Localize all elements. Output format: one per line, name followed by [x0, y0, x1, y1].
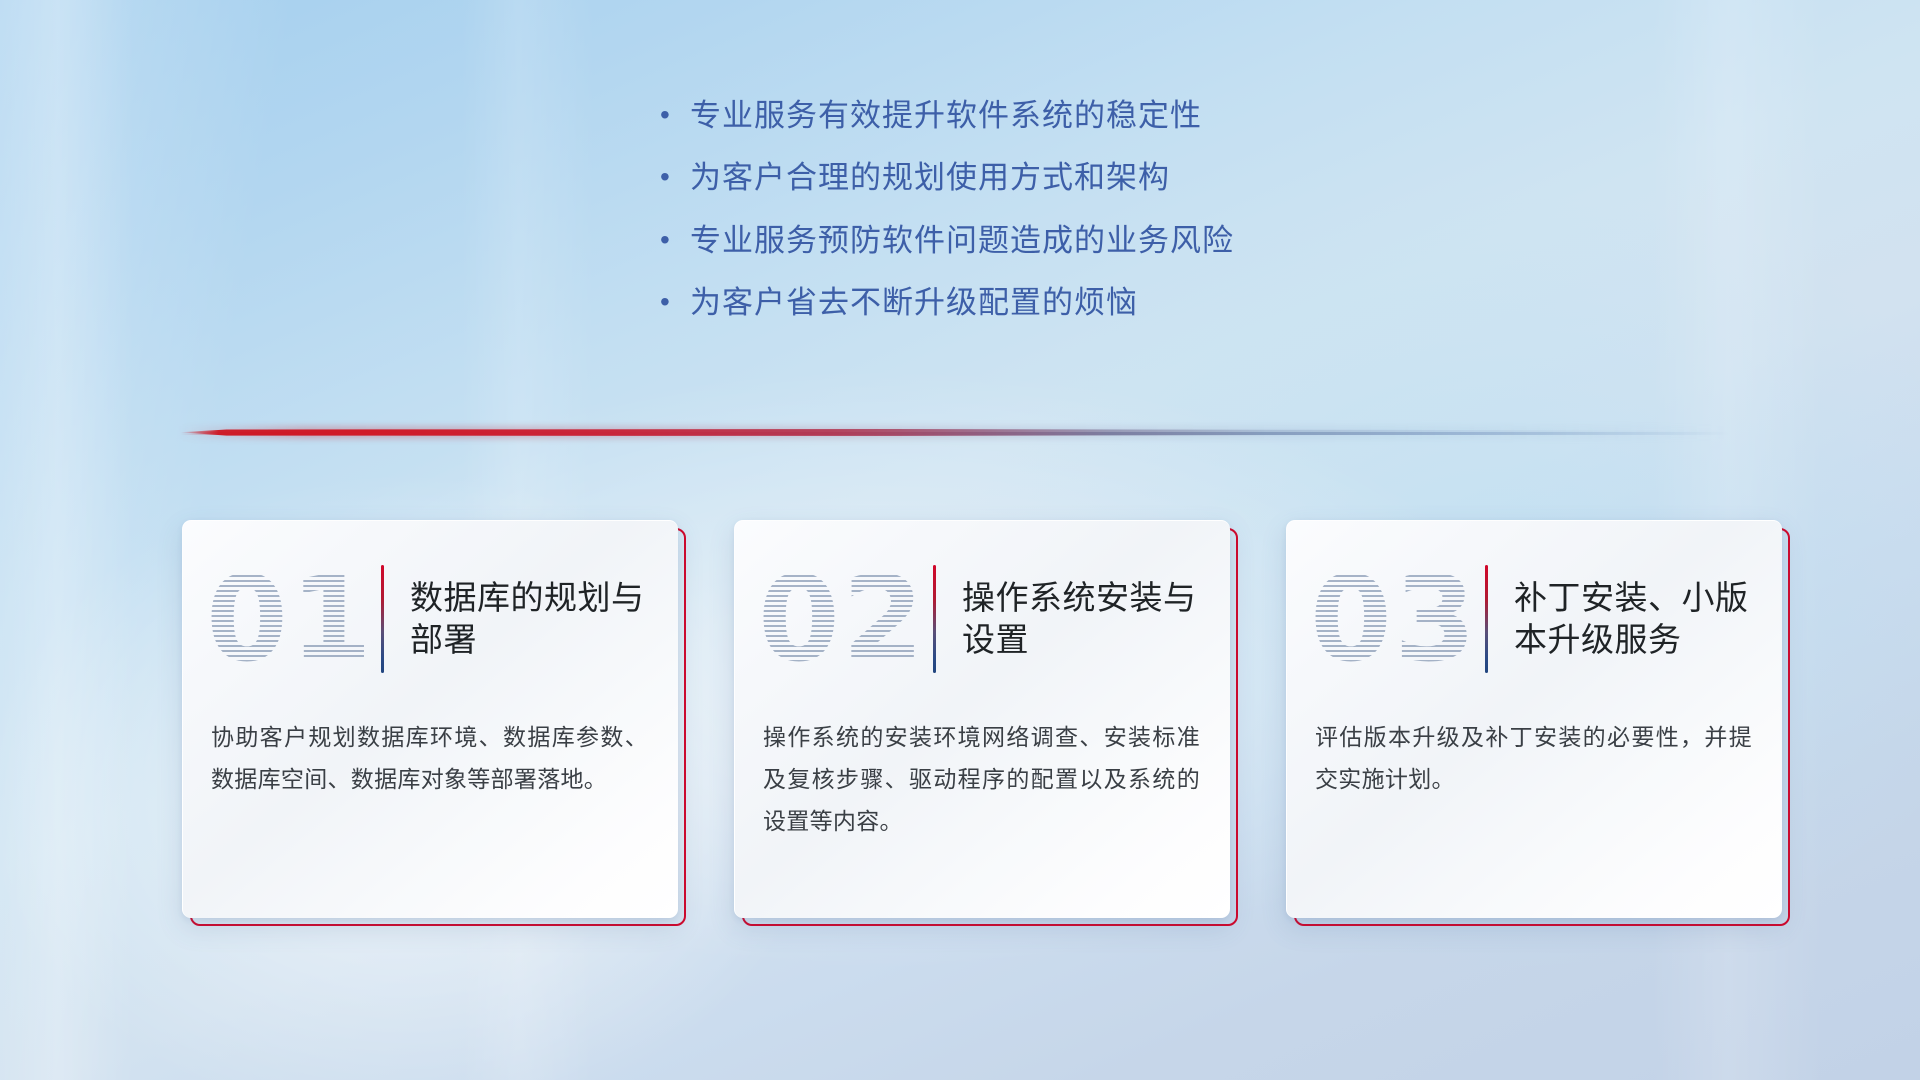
bullet-dot-icon: •	[660, 288, 690, 316]
bullet-item-text: 专业服务有效提升软件系统的稳定性	[690, 96, 1202, 136]
card-panel: 01 数据库的规划与部署 协助客户规划数据库环境、数据库参数、数据库空间、数据库…	[182, 520, 678, 918]
card-title: 补丁安装、小版本升级服务	[1514, 577, 1764, 660]
bullet-item: • 为客户合理的规划使用方式和架构	[660, 158, 1440, 198]
card-panel: 03 补丁安装、小版本升级服务 评估版本升级及补丁安装的必要性，并提交实施计划。	[1286, 520, 1782, 918]
card-02[interactable]: 02 操作系统安装与设置 操作系统的安装环境网络调查、安装标准及复核步骤、驱动程…	[734, 520, 1230, 918]
bullet-item-text: 专业服务预防软件问题造成的业务风险	[690, 221, 1234, 261]
bullet-item-text: 为客户省去不断升级配置的烦恼	[690, 283, 1138, 323]
card-divider-bar	[381, 565, 384, 673]
card-title: 数据库的规划与部署	[410, 577, 660, 660]
card-header: 03 补丁安装、小版本升级服务	[1287, 521, 1782, 717]
card-number: 01	[205, 560, 375, 678]
bullet-item-text: 为客户合理的规划使用方式和架构	[690, 158, 1170, 198]
card-body-text: 操作系统的安装环境网络调查、安装标准及复核步骤、驱动程序的配置以及系统的设置等内…	[735, 717, 1230, 843]
card-number: 03	[1309, 560, 1479, 678]
bullet-item: • 为客户省去不断升级配置的烦恼	[660, 283, 1440, 323]
bullet-item: • 专业服务预防软件问题造成的业务风险	[660, 221, 1440, 261]
bullet-item: • 专业服务有效提升软件系统的稳定性	[660, 96, 1440, 136]
slide-canvas: • 专业服务有效提升软件系统的稳定性 • 为客户合理的规划使用方式和架构 • 专…	[0, 0, 1920, 1080]
bullet-dot-icon: •	[660, 101, 690, 129]
card-title: 操作系统安装与设置	[962, 577, 1212, 660]
card-body-text: 协助客户规划数据库环境、数据库参数、数据库空间、数据库对象等部署落地。	[183, 717, 678, 801]
card-divider-bar	[1485, 565, 1488, 673]
card-header: 02 操作系统安装与设置	[735, 521, 1230, 717]
card-row: 01 数据库的规划与部署 协助客户规划数据库环境、数据库参数、数据库空间、数据库…	[182, 520, 1782, 918]
card-body-text: 评估版本升级及补丁安装的必要性，并提交实施计划。	[1287, 717, 1782, 801]
bullet-dot-icon: •	[660, 163, 690, 191]
section-divider	[180, 424, 1730, 440]
card-03[interactable]: 03 补丁安装、小版本升级服务 评估版本升级及补丁安装的必要性，并提交实施计划。	[1286, 520, 1782, 918]
card-01[interactable]: 01 数据库的规划与部署 协助客户规划数据库环境、数据库参数、数据库空间、数据库…	[182, 520, 678, 918]
bullet-list: • 专业服务有效提升软件系统的稳定性 • 为客户合理的规划使用方式和架构 • 专…	[660, 96, 1440, 345]
card-divider-bar	[933, 565, 936, 673]
card-panel: 02 操作系统安装与设置 操作系统的安装环境网络调查、安装标准及复核步骤、驱动程…	[734, 520, 1230, 918]
bullet-dot-icon: •	[660, 226, 690, 254]
card-header: 01 数据库的规划与部署	[183, 521, 678, 717]
card-number: 02	[757, 560, 927, 678]
